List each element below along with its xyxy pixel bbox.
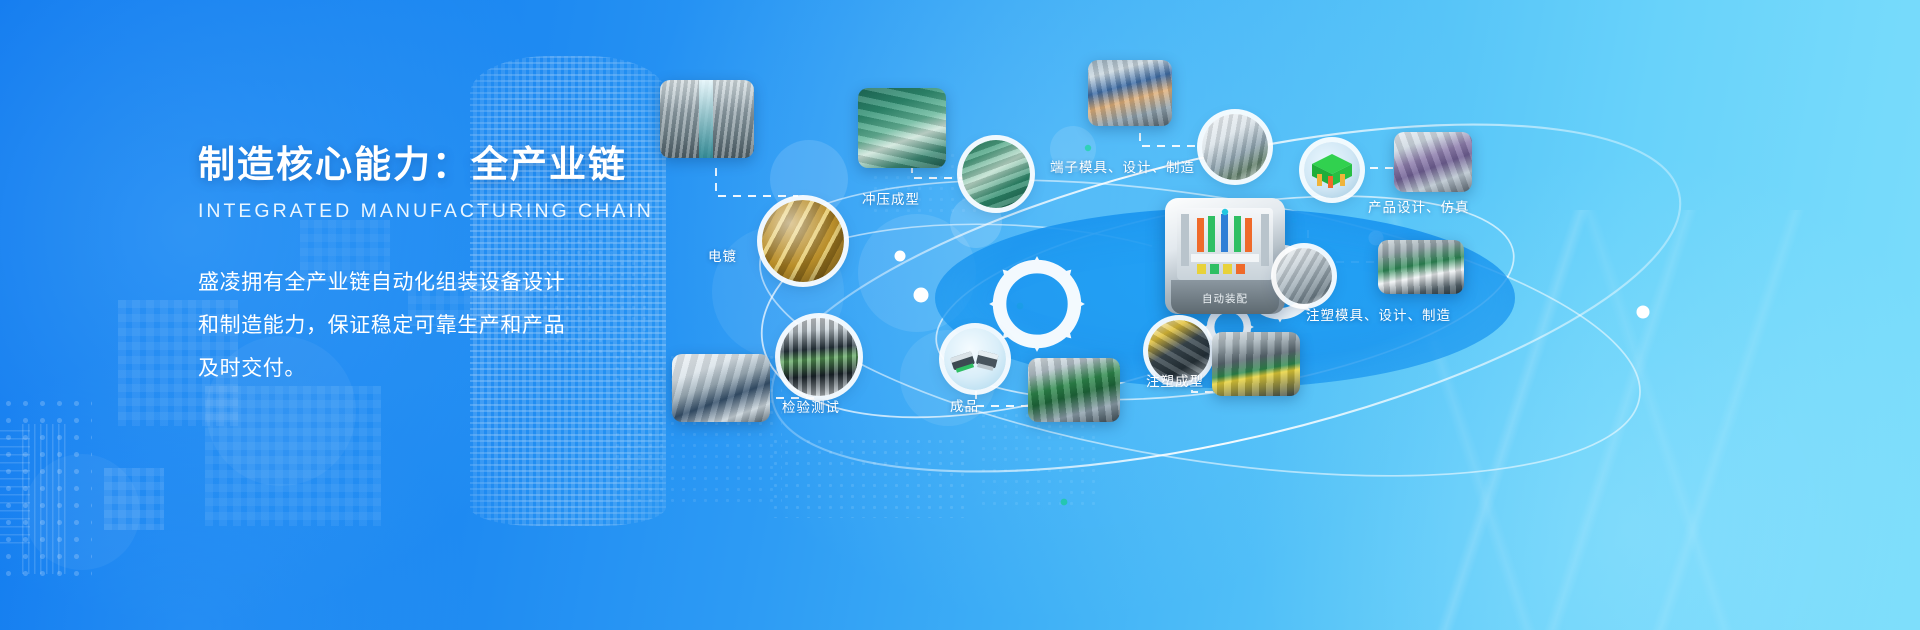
terminal-mold-photo (1202, 114, 1268, 180)
thumbnail-stamping[interactable] (858, 88, 946, 168)
bubble-finished-goods[interactable] (944, 328, 1006, 390)
headline-block: 制造核心能力：全产业链 INTEGRATED MANUFACTURING CHA… (198, 143, 618, 390)
mold-internals-icon (1177, 208, 1273, 280)
thumbnail-inspection[interactable] (672, 354, 770, 422)
mold-base: 自动装配 (1171, 280, 1279, 314)
page-subtitle: INTEGRATED MANUFACTURING CHAIN (198, 200, 618, 223)
connector-parts-icon (944, 328, 1006, 390)
bubble-plating[interactable] (762, 200, 844, 282)
bubble-terminal-mold[interactable] (1202, 114, 1268, 180)
label-inspection: 检验测试 (782, 396, 840, 416)
block-grid-decoration (205, 386, 381, 526)
label-finished-goods: 成品 (950, 395, 979, 415)
leader-plating (716, 168, 798, 196)
label-terminal-mold: 端子模具、设计、制造 (1050, 156, 1195, 176)
thumbnail-finished-goods[interactable] (1028, 358, 1120, 422)
automatic-assembly-mold: 自动装配 (1165, 198, 1285, 314)
page-title: 制造核心能力：全产业链 (198, 143, 618, 187)
bubble-stamping[interactable] (962, 140, 1030, 208)
stamping-photo (962, 140, 1030, 208)
orbit-bead (895, 251, 906, 262)
orbit-bead (914, 288, 929, 303)
bubble-inspection[interactable] (780, 318, 858, 396)
plating-photo (762, 200, 844, 282)
page-description: 盛凌拥有全产业链自动化组装设备设计和制造能力，保证稳定可靠生产和产品及时交付。 (198, 261, 570, 390)
dash-line-decoration (22, 424, 70, 574)
label-plating: 电镀 (708, 245, 737, 265)
green-cube-icon (1304, 142, 1360, 198)
finished-goods-photo (944, 328, 1006, 390)
bubble-injection-mold[interactable] (1276, 248, 1332, 304)
dash-line-decoration (0, 430, 30, 550)
orbit-bead (1637, 306, 1650, 319)
product-design-icon (1304, 142, 1360, 198)
mold-cavity (1177, 208, 1273, 280)
thumbnail-terminal-mold[interactable] (1088, 60, 1172, 126)
label-injection-mold: 注塑模具、设计、制造 (1306, 304, 1451, 324)
label-injection-form: 注塑成型 (1146, 370, 1204, 390)
thumbnail-plating[interactable] (660, 80, 754, 158)
injection-mold-photo (1276, 248, 1332, 304)
manufacturing-chain-banner: 制造核心能力：全产业链 INTEGRATED MANUFACTURING CHA… (0, 0, 1920, 630)
block-grid-decoration (104, 468, 164, 530)
inspection-photo (780, 318, 858, 396)
dot-matrix-decoration (0, 395, 92, 585)
thumbnail-injection-mold[interactable] (1378, 240, 1464, 294)
bubble-product-design[interactable] (1304, 142, 1360, 198)
label-stamping: 冲压成型 (862, 188, 920, 208)
hub-label: 自动装配 (1171, 291, 1279, 306)
label-product-design: 产品设计、仿真 (1368, 196, 1470, 216)
supply-chain-diagram: 自动装配 电镀 冲压成型 端子模具、设计、制造 (640, 40, 1920, 600)
thumbnail-injection-form[interactable] (1212, 332, 1300, 396)
thumbnail-product-design[interactable] (1394, 132, 1472, 192)
bokeh-circle (24, 454, 140, 570)
